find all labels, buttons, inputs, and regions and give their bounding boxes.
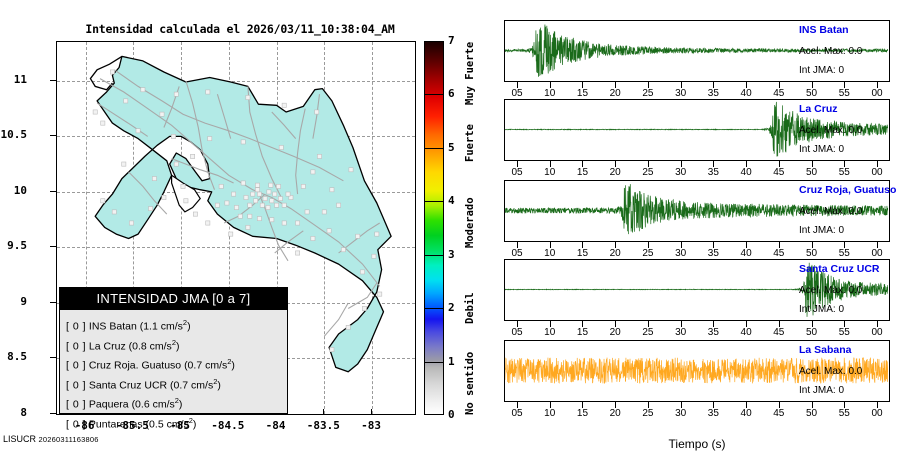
station-name[interactable]: Santa Cruz UCR [799,263,880,275]
legend-entry-accel: (1.1 cm/s [140,321,183,333]
legend-entry-station: La Cruz [86,340,129,352]
map-y-tick [50,413,56,414]
legend-entry-tail: ) [187,321,191,333]
seismogram-time-tick-label: 15 [569,327,595,338]
seismogram-time-tick-label: 50 [799,248,825,259]
station-max-acceleration: Acel. Max. 0.0 [799,206,862,217]
seismogram-row: 051015202530354045505500La SabanaAcel. M… [495,340,910,424]
seismogram-time-tick-label: 00 [864,408,890,419]
legend-entry-value: [ 0 ] [66,379,86,391]
legend-entry-tail: ) [231,360,235,372]
seismogram-time-tick-label: 50 [799,408,825,419]
legend-entry-station: Santa Cruz UCR [86,379,170,391]
legend-entry: [ 0 ] Paquera (0.6 cm/s2) [66,393,287,413]
seismogram-time-tick-label: 50 [799,327,825,338]
seismogram-time-tick-label: 40 [733,248,759,259]
legend-entry-accel: (0.5 cm/s [146,418,189,430]
seismogram-time-tick-label: 55 [831,88,857,99]
footer-credit: LISUCR 20260311163806 [3,434,99,444]
seismogram-time-tick-label: 55 [831,167,857,178]
seismogram-time-tick-label: 40 [733,327,759,338]
seismogram-time-tick-label: 50 [799,167,825,178]
seismogram-time-tick-label: 10 [537,167,563,178]
seismogram-time-tick-label: 25 [635,167,661,178]
colorbar-tick [424,41,444,42]
seismogram-time-tick-label: 05 [504,248,530,259]
seismogram-time-tick-label: 35 [700,248,726,259]
seismogram-time-tick-label: 55 [831,248,857,259]
colorbar-tick-label: 6 [448,87,455,100]
colorbar-tick [424,308,444,309]
seismogram-time-tick-label: 10 [537,248,563,259]
colorbar-tick [424,201,444,202]
seismogram-time-tick-label: 30 [668,408,694,419]
colorbar-tick-label: 4 [448,194,455,207]
seismogram-time-tick-label: 45 [766,327,792,338]
seismogram-time-tick-label: 55 [831,327,857,338]
seismogram-time-tick-label: 50 [799,88,825,99]
legend-entry-station: INS Batan [86,321,140,333]
map-y-tick [50,80,56,81]
legend-entry-value: [ 0 ] [66,399,86,411]
station-name[interactable]: La Cruz [799,103,838,115]
seismogram-time-tick-label: 15 [569,248,595,259]
legend-entries: [ 0 ] INS Batan (1.1 cm/s2)[ 0 ] La Cruz… [60,310,287,432]
map-y-tick [50,357,56,358]
station-max-acceleration: Acel. Max. 0.0 [799,285,862,296]
map-x-tick [371,409,372,415]
legend-entry-accel: (0.6 cm/s [132,399,175,411]
footer-label: LISUCR [3,434,36,444]
seismogram-time-tick-label: 40 [733,88,759,99]
seismogram-row: 051015202530354045505500INS BatanAcel. M… [495,20,910,104]
seismogram-time-tick-label: 20 [602,327,628,338]
colorbar-tick-label: 7 [448,34,455,47]
seismogram-time-tick-label: 35 [700,408,726,419]
intensity-legend: INTENSIDAD JMA [0 a 7] [ 0 ] INS Batan (… [59,287,288,414]
seismogram-time-tick-label: 35 [700,167,726,178]
seismogram-time-tick-label: 00 [864,248,890,259]
seismogram-time-tick-label: 05 [504,88,530,99]
seismogram-time-tick-label: 20 [602,167,628,178]
seismogram-time-tick-label: 45 [766,88,792,99]
map-y-tick-label: 10.5 [0,128,27,141]
legend-entry: [ 0 ] Santa Cruz UCR (0.7 cm/s2) [66,374,287,394]
seismogram-time-tick-label: 05 [504,167,530,178]
map-x-tick [323,409,324,415]
station-jma-intensity: Int JMA: 0 [799,65,844,76]
seismogram-time-tick-label: 35 [700,88,726,99]
seismogram-time-tick-label: 25 [635,248,661,259]
legend-entry-tail: ) [193,418,197,430]
station-max-acceleration: Acel. Max. 0.0 [799,125,862,136]
colorbar-gradient [424,41,444,415]
seismogram-time-tick-label: 45 [766,167,792,178]
station-max-acceleration: Acel. Max. 0.0 [799,46,862,57]
station-jma-intensity: Int JMA: 0 [799,144,844,155]
seismogram-time-tick-label: 35 [700,327,726,338]
colorbar-category-label: No sentido [464,352,476,415]
seismogram-time-tick-label: 05 [504,327,530,338]
time-axis-label: Tiempo (s) [504,437,890,451]
legend-entry-tail: ) [176,340,180,352]
station-name[interactable]: Cruz Roja, Guatuso [799,184,896,196]
map-y-tick-label: 9.5 [0,239,27,252]
legend-entry-station: Puntarenas [86,418,146,430]
seismogram-time-tick-label: 55 [831,408,857,419]
colorbar-category-label: Debil [464,293,476,325]
map-y-tick-label: 10 [0,184,27,197]
map-x-tick-label: -83.5 [296,419,350,432]
colorbar-tick [424,148,444,149]
map-y-tick [50,302,56,303]
station-max-acceleration: Acel. Max. 0.0 [799,366,862,377]
seismogram-time-tick-label: 25 [635,327,661,338]
footer-timestamp: 20260311163806 [39,435,99,444]
colorbar-tick-label: 2 [448,301,455,314]
colorbar-tick [424,255,444,256]
legend-entry: [ 0 ] INS Batan (1.1 cm/s2) [66,315,287,335]
seismogram-time-tick-label: 00 [864,167,890,178]
seismogram-time-tick-label: 30 [668,248,694,259]
intensity-colorbar: 01234567No sentidoDebilModeradoFuerteMuy… [424,41,494,415]
colorbar-tick-label: 3 [448,248,455,261]
legend-entry: [ 0 ] Puntarenas (0.5 cm/s2) [66,413,287,433]
station-jma-intensity: Int JMA: 0 [799,225,844,236]
seismogram-time-tick-label: 40 [733,167,759,178]
seismogram-time-tick-label: 00 [864,88,890,99]
map-x-tick-label: -83 [344,419,398,432]
legend-entry-value: [ 0 ] [66,360,86,372]
legend-entry-value: [ 0 ] [66,321,86,333]
seismogram-panel: 051015202530354045505500INS BatanAcel. M… [495,0,910,460]
colorbar-tick-label: 0 [448,408,455,421]
station-jma-intensity: Int JMA: 0 [799,304,844,315]
map-y-tick-label: 8.5 [0,350,27,363]
legend-entry-value: [ 0 ] [66,418,86,430]
seismogram-time-tick-label: 45 [766,248,792,259]
legend-entry-tail: ) [217,379,221,391]
seismogram-time-tick-label: 20 [602,408,628,419]
seismogram-time-tick-label: 15 [569,88,595,99]
colorbar-tick-label: 5 [448,141,455,154]
seismogram-time-tick-label: 40 [733,408,759,419]
seismogram-time-tick-label: 15 [569,408,595,419]
seismogram-time-tick-label: 20 [602,88,628,99]
legend-title: INTENSIDAD JMA [0 a 7] [60,288,287,310]
seismogram-time-tick-label: 10 [537,408,563,419]
seismogram-time-tick-label: 10 [537,327,563,338]
map-y-tick [50,246,56,247]
seismogram-time-tick-label: 15 [569,167,595,178]
seismogram-time-tick-label: 10 [537,88,563,99]
legend-entry-station: Paquera [86,399,132,411]
seismogram-row: 051015202530354045505500Santa Cruz UCRAc… [495,259,910,343]
legend-entry: [ 0 ] Cruz Roja. Guatuso (0.7 cm/s2) [66,354,287,374]
map-y-tick-label: 8 [0,406,27,419]
legend-entry-value: [ 0 ] [66,340,86,352]
station-jma-intensity: Int JMA: 0 [799,385,844,396]
legend-entry-accel: (0.8 cm/s [129,340,172,352]
map-y-tick-label: 9 [0,295,27,308]
seismogram-row: 051015202530354045505500La CruzAcel. Max… [495,99,910,183]
legend-entry-tail: ) [179,399,183,411]
map-y-tick [50,135,56,136]
seismogram-row: 051015202530354045505500Cruz Roja, Guatu… [495,180,910,264]
seismogram-time-tick-label: 20 [602,248,628,259]
legend-entry-station: Cruz Roja. Guatuso [86,360,184,372]
colorbar-category-label: Fuerte [464,124,476,162]
station-name[interactable]: INS Batan [799,24,849,36]
map-y-tick-label: 11 [0,73,27,86]
map-panel: Intensidad calculada el 2026/03/11_10:38… [0,0,495,460]
seismogram-time-tick-label: 00 [864,327,890,338]
colorbar-tick [424,94,444,95]
colorbar-category-label: Moderado [464,198,476,249]
seismogram-time-tick-label: 30 [668,327,694,338]
seismogram-time-tick-label: 25 [635,408,661,419]
station-name[interactable]: La Sabana [799,344,852,356]
map-title: Intensidad calculada el 2026/03/11_10:38… [70,22,410,36]
seismogram-time-tick-label: 25 [635,88,661,99]
legend-entry-accel: (0.7 cm/s [170,379,213,391]
legend-entry-accel: (0.7 cm/s [184,360,227,372]
colorbar-tick-label: 1 [448,355,455,368]
seismogram-time-tick-label: 05 [504,408,530,419]
legend-entry: [ 0 ] La Cruz (0.8 cm/s2) [66,335,287,355]
seismogram-time-tick-label: 30 [668,88,694,99]
map-y-tick [50,191,56,192]
seismogram-time-tick-label: 30 [668,167,694,178]
colorbar-category-label: Muy Fuerte [464,42,476,105]
colorbar-tick [424,362,444,363]
seismogram-time-tick-label: 45 [766,408,792,419]
